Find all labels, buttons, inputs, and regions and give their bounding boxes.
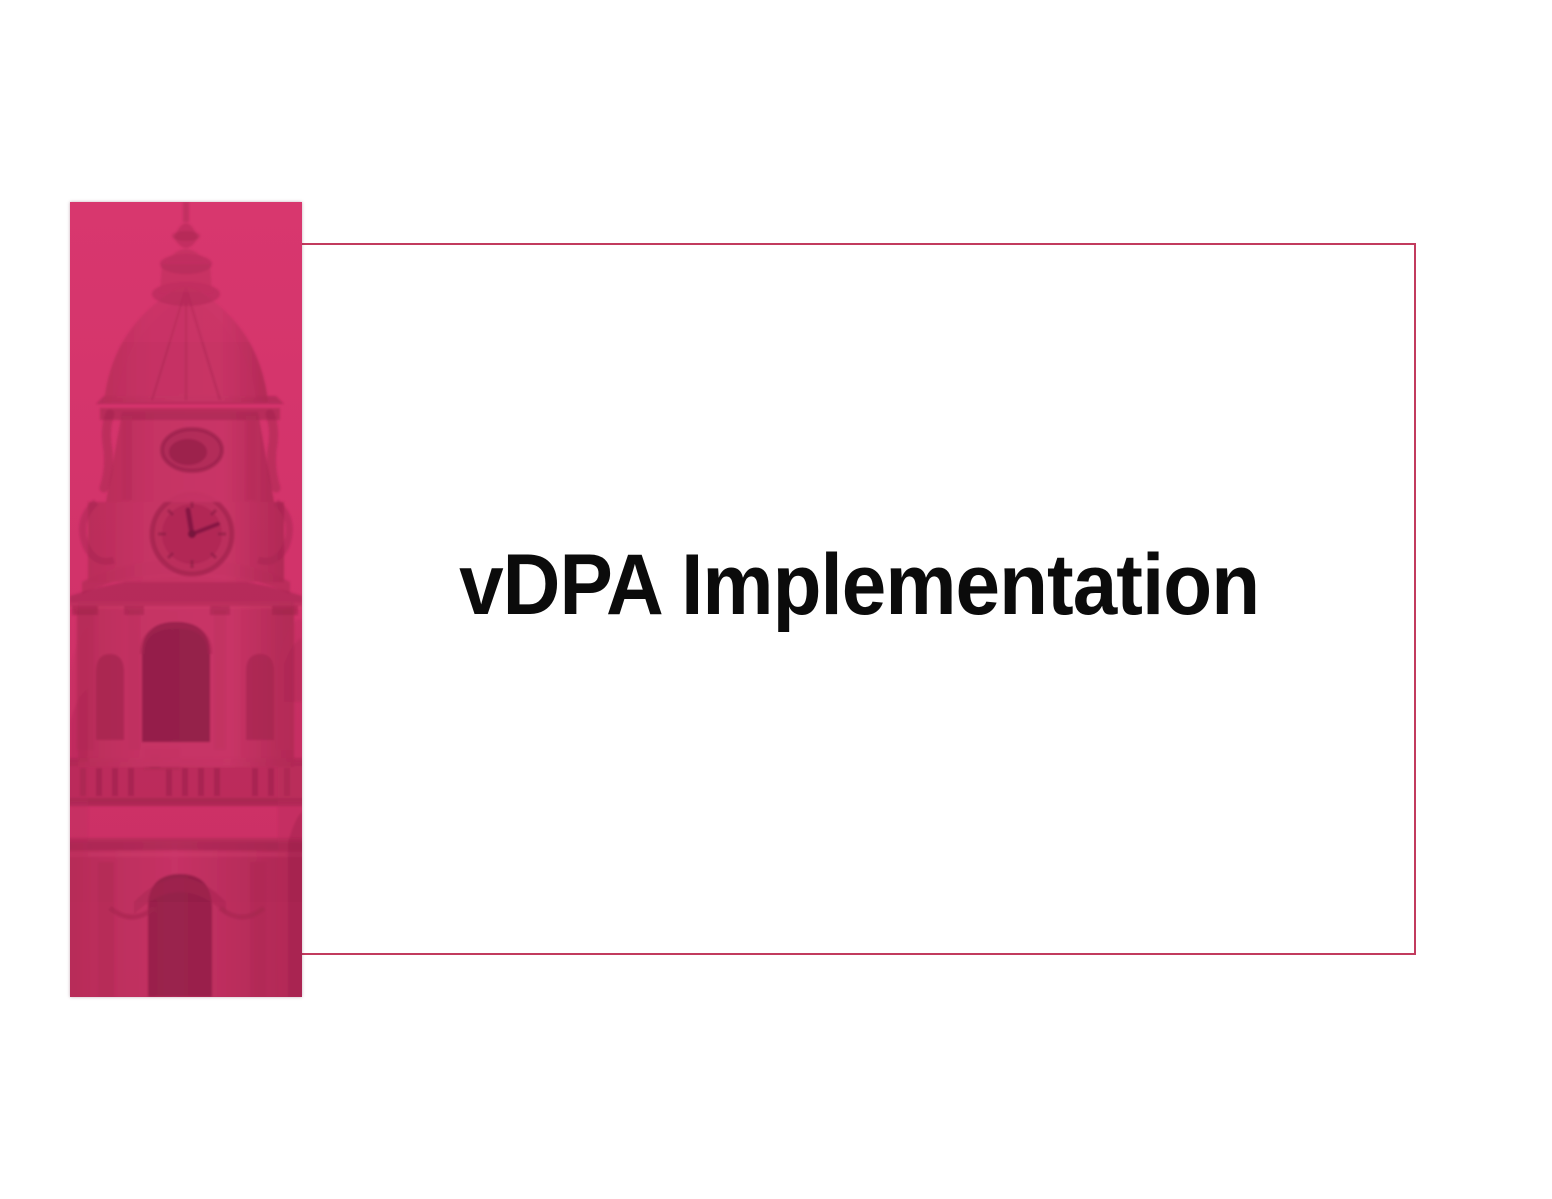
slide-canvas: vDPA Implementation: [0, 0, 1552, 1199]
church-tower-image: [70, 202, 302, 997]
page-title: vDPA Implementation: [459, 540, 1259, 630]
slide-title-block: vDPA Implementation: [302, 540, 1416, 630]
tower-photo-panel: [70, 202, 302, 997]
